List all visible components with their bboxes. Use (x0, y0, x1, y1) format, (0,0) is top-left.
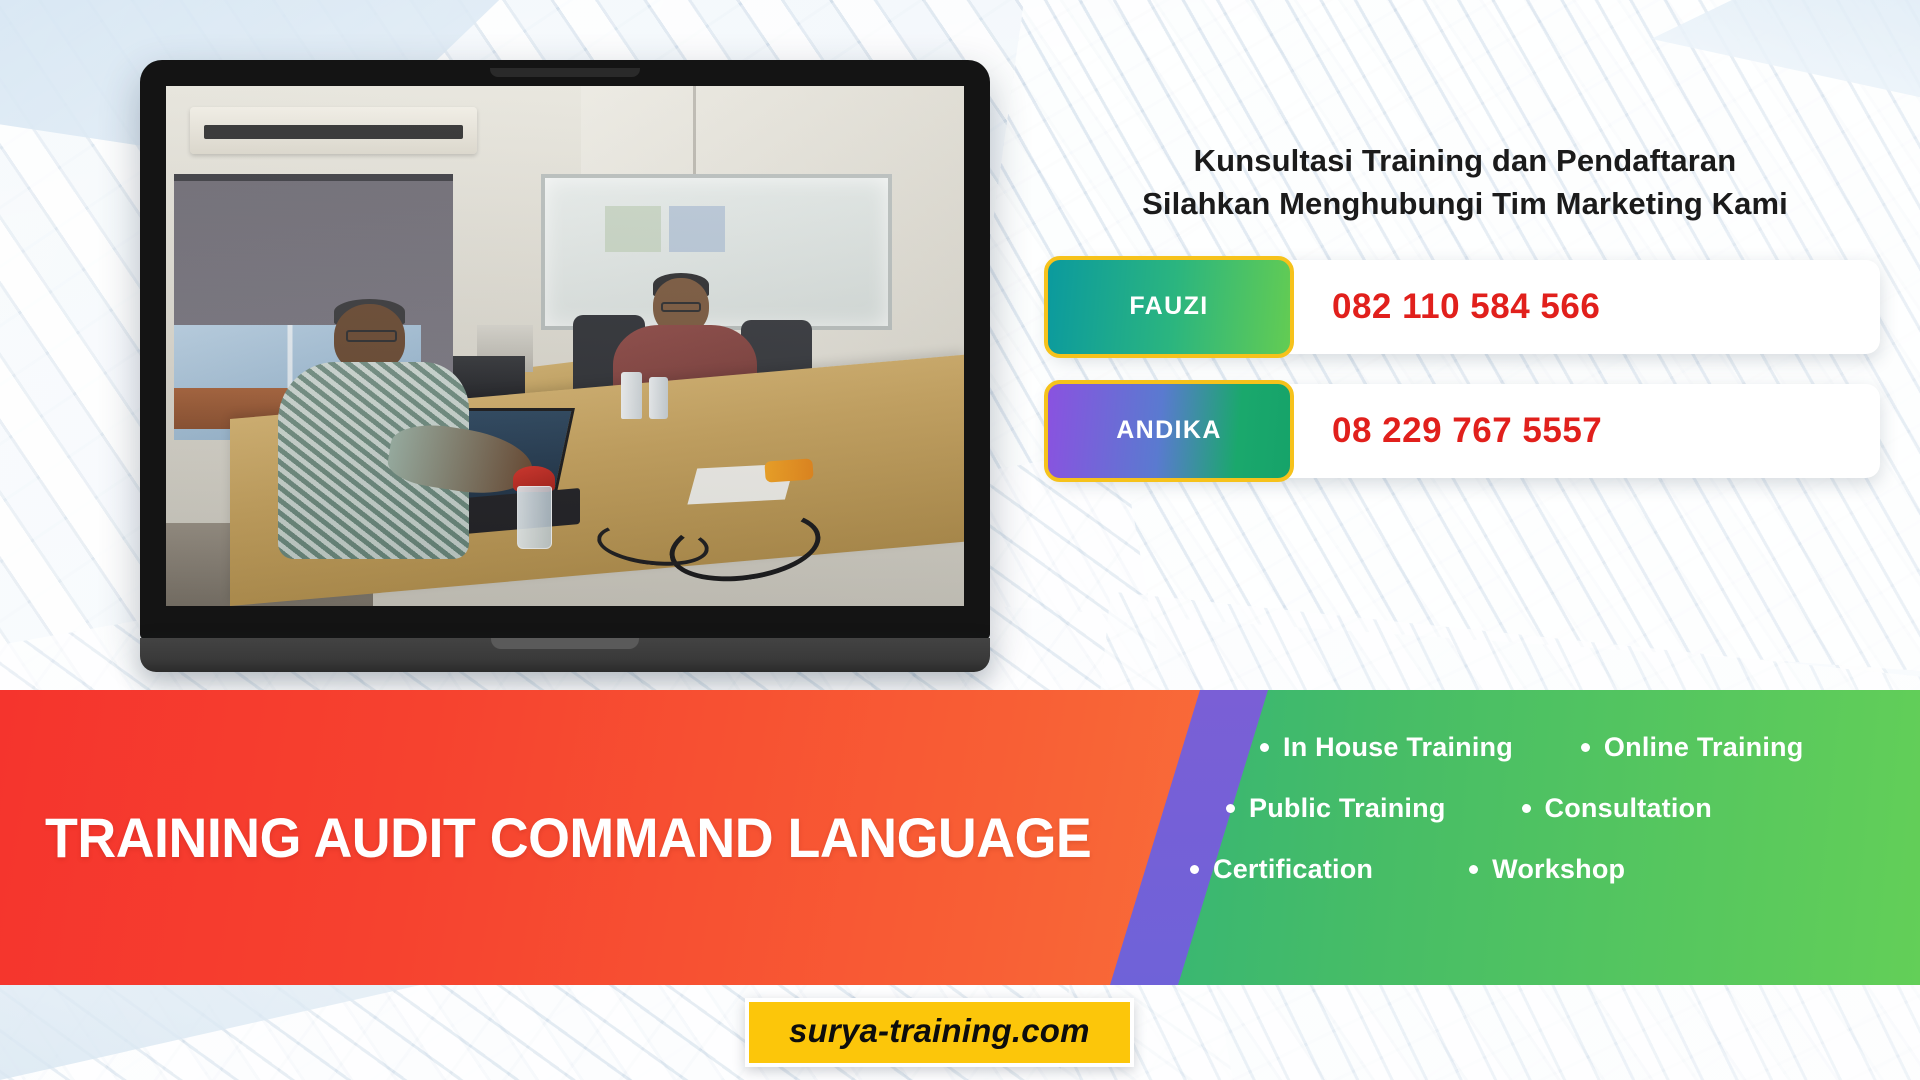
contact-name-badge-andika: ANDIKA (1044, 380, 1294, 482)
contact-section: Kunsultasi Training dan Pendaftaran Sila… (1050, 140, 1880, 478)
contact-headline: Kunsultasi Training dan Pendaftaran Sila… (1050, 140, 1880, 226)
website-badge[interactable]: surya-training.com (745, 998, 1134, 1067)
bullet-icon (1522, 804, 1531, 813)
website-badge-box[interactable]: surya-training.com (745, 998, 1134, 1067)
bullet-icon (1260, 743, 1269, 752)
service-row-1: In House Training Online Training (1160, 732, 1920, 763)
contact-name-fauzi: FAUZI (1129, 292, 1208, 321)
meeting-room-photo (166, 86, 964, 606)
contact-card-fauzi[interactable]: FAUZI 082 110 584 566 (1050, 260, 1880, 354)
service-row-2: Public Training Consultation (1160, 793, 1920, 824)
contact-phone-fauzi[interactable]: 082 110 584 566 (1332, 287, 1600, 327)
banner-title-area: TRAINING AUDIT COMMAND LANGUAGE (45, 690, 1135, 985)
photo-shading (166, 86, 964, 606)
service-list: In House Training Online Training Public… (1160, 690, 1920, 985)
bullet-icon (1581, 743, 1590, 752)
contact-name-andika: ANDIKA (1116, 416, 1222, 445)
service-label: Workshop (1492, 854, 1625, 885)
service-label: Public Training (1249, 793, 1446, 824)
service-item-certification: Certification (1190, 854, 1373, 885)
laptop-base-notch (491, 638, 639, 649)
service-item-consultation: Consultation (1522, 793, 1712, 824)
service-label: In House Training (1283, 732, 1513, 763)
bottom-banner: TRAINING AUDIT COMMAND LANGUAGE In House… (0, 690, 1920, 985)
laptop-screen (166, 86, 964, 606)
service-item-online-training: Online Training (1581, 732, 1804, 763)
service-label: Consultation (1545, 793, 1712, 824)
service-item-in-house-training: In House Training (1260, 732, 1513, 763)
contact-name-badge-fauzi: FAUZI (1044, 256, 1294, 358)
laptop-lid (140, 60, 990, 640)
bullet-icon (1190, 865, 1199, 874)
laptop-camera-notch (490, 68, 640, 77)
bullet-icon (1469, 865, 1478, 874)
contact-phone-andika[interactable]: 08 229 767 5557 (1332, 411, 1602, 451)
headline-line-2: Silahkan Menghubungi Tim Marketing Kami (1050, 183, 1880, 226)
laptop-base (140, 638, 990, 672)
headline-line-1: Kunsultasi Training dan Pendaftaran (1050, 140, 1880, 183)
service-item-workshop: Workshop (1469, 854, 1625, 885)
service-item-public-training: Public Training (1226, 793, 1446, 824)
course-title: TRAINING AUDIT COMMAND LANGUAGE (45, 810, 1091, 866)
laptop-mockup (140, 60, 990, 672)
website-url[interactable]: surya-training.com (789, 1012, 1090, 1049)
service-row-3: Certification Workshop (1160, 854, 1920, 885)
contact-card-andika[interactable]: ANDIKA 08 229 767 5557 (1050, 384, 1880, 478)
contact-card-list: FAUZI 082 110 584 566 ANDIKA 08 229 767 … (1050, 260, 1880, 478)
service-label: Certification (1213, 854, 1373, 885)
service-label: Online Training (1604, 732, 1804, 763)
bullet-icon (1226, 804, 1235, 813)
